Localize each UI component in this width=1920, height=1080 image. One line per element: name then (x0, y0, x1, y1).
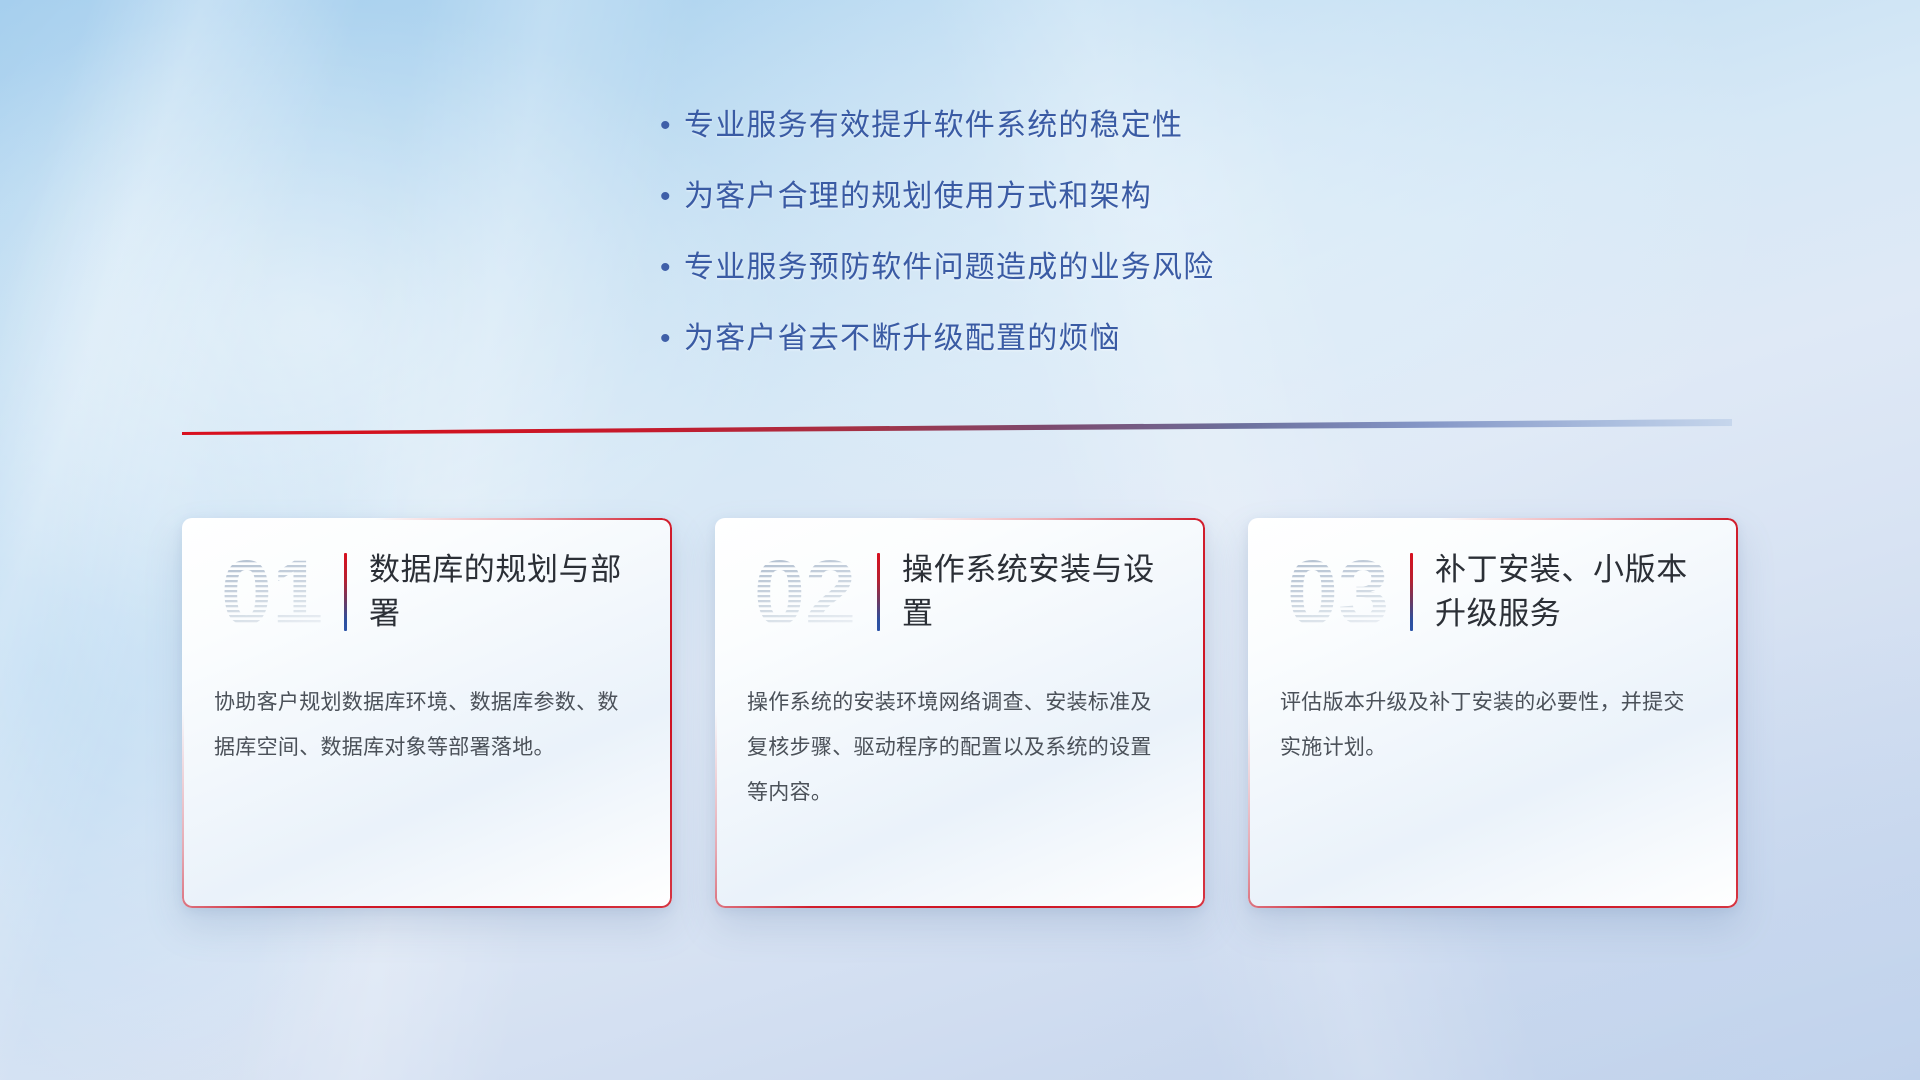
card-number-watermark: 01 (208, 540, 336, 644)
card-title: 数据库的规划与部署 (369, 548, 638, 636)
bullet-text: 为客户省去不断升级配置的烦恼 (684, 317, 1121, 361)
service-card-row: 01 数据库的规划与部署 协助客户规划数据库环境、数据库参数、数据库空间、数据库… (182, 518, 1738, 918)
number-glitch-icon: 02 (741, 540, 869, 644)
svg-text:01: 01 (221, 542, 323, 644)
divider-shape-icon (182, 418, 1732, 436)
card-header: 02 操作系统安装与设置 (715, 518, 1205, 666)
title-accent-rule (877, 553, 880, 631)
list-item: • 为客户省去不断升级配置的烦恼 (660, 317, 1480, 361)
benefits-bullet-list: • 专业服务有效提升软件系统的稳定性 • 为客户合理的规划使用方式和架构 • 专… (660, 104, 1480, 388)
section-divider (182, 418, 1732, 436)
svg-text:03: 03 (1287, 542, 1389, 644)
bullet-text: 专业服务有效提升软件系统的稳定性 (684, 104, 1183, 148)
svg-text:02: 02 (754, 542, 856, 644)
bullet-marker-icon: • (660, 104, 684, 148)
card-body-text: 操作系统的安装环境网络调查、安装标准及复核步骤、驱动程序的配置以及系统的设置等内… (715, 666, 1205, 815)
service-card-03[interactable]: 03 补丁安装、小版本升级服务 评估版本升级及补丁安装的必要性，并提交实施计划。 (1248, 518, 1738, 908)
service-card-02[interactable]: 02 操作系统安装与设置 操作系统的安装环境网络调查、安装标准及复核步骤、驱动程… (715, 518, 1205, 908)
bullet-text: 为客户合理的规划使用方式和架构 (684, 175, 1152, 219)
bullet-text: 专业服务预防软件问题造成的业务风险 (684, 246, 1214, 290)
card-number-watermark: 02 (741, 540, 869, 644)
number-glitch-icon: 03 (1274, 540, 1402, 644)
card-title: 补丁安装、小版本升级服务 (1435, 548, 1704, 636)
card-number-watermark: 03 (1274, 540, 1402, 644)
card-title: 操作系统安装与设置 (902, 548, 1171, 636)
service-card-01[interactable]: 01 数据库的规划与部署 协助客户规划数据库环境、数据库参数、数据库空间、数据库… (182, 518, 672, 908)
bullet-marker-icon: • (660, 317, 684, 361)
card-header: 03 补丁安装、小版本升级服务 (1248, 518, 1738, 666)
card-header: 01 数据库的规划与部署 (182, 518, 672, 666)
list-item: • 专业服务预防软件问题造成的业务风险 (660, 246, 1480, 290)
card-body-text: 评估版本升级及补丁安装的必要性，并提交实施计划。 (1248, 666, 1738, 770)
title-accent-rule (1410, 553, 1413, 631)
slide-canvas: • 专业服务有效提升软件系统的稳定性 • 为客户合理的规划使用方式和架构 • 专… (0, 0, 1920, 1080)
card-body-text: 协助客户规划数据库环境、数据库参数、数据库空间、数据库对象等部署落地。 (182, 666, 672, 770)
number-glitch-icon: 01 (208, 540, 336, 644)
list-item: • 为客户合理的规划使用方式和架构 (660, 175, 1480, 219)
bullet-marker-icon: • (660, 175, 684, 219)
bullet-marker-icon: • (660, 246, 684, 290)
list-item: • 专业服务有效提升软件系统的稳定性 (660, 104, 1480, 148)
title-accent-rule (344, 553, 347, 631)
